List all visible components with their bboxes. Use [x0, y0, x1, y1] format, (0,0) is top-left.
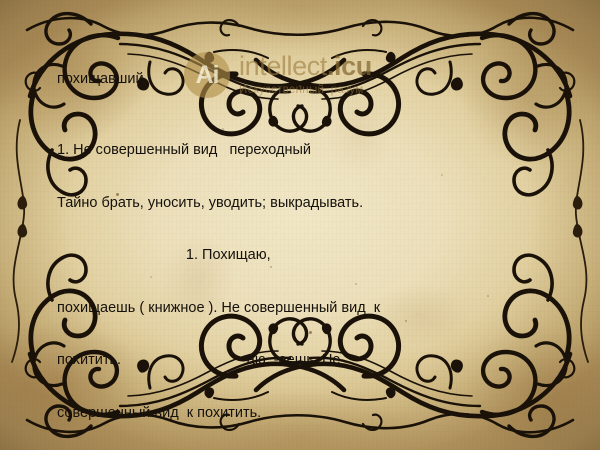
entry-line: 1. Похищаю, [57, 247, 527, 265]
entry-line: совершенный вид к похитить. [57, 405, 527, 423]
parchment-page: Ai intellect.icu Искусственный разум пох… [0, 0, 600, 450]
edge-vine-right [573, 120, 588, 362]
entry-line: 1. Не совершенный вид переходный [57, 142, 527, 160]
dictionary-entry: похищавший 1. Не совершенный вид переход… [57, 70, 527, 450]
entry-line: похищаешь ( книжное ). Не совершенный ви… [57, 300, 527, 318]
entry-line: похитить. -аю, -аешь. Не [57, 352, 527, 370]
edge-vine-left [12, 120, 27, 362]
edge-ornament-top [27, 14, 573, 44]
entry-definition-block: 1. Не совершенный вид переходный Тайно б… [57, 107, 527, 450]
entry-line: Тайно брать, уносить, уводить; выкрадыва… [57, 195, 527, 213]
entry-headword: похищавший [57, 70, 527, 88]
